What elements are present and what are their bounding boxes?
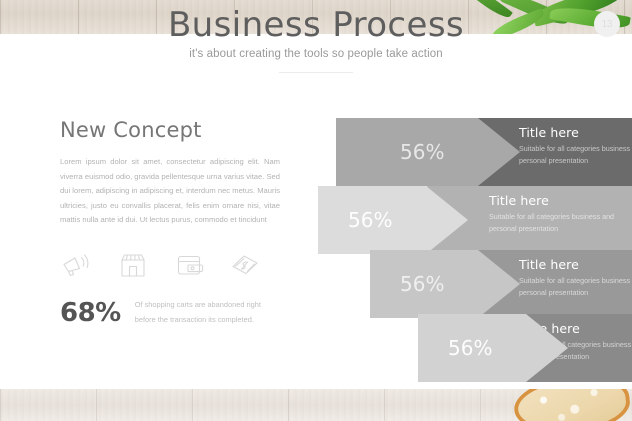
banknote-icon bbox=[228, 250, 262, 280]
process-step-percent: 56% bbox=[448, 336, 492, 360]
process-step-text: Title hereSuitable for all categories bu… bbox=[519, 257, 632, 298]
section-heading: New Concept bbox=[60, 118, 280, 142]
process-step-row[interactable]: Title hereSuitable for all categories bu… bbox=[318, 314, 632, 392]
process-step-description: Suitable for all categories business and… bbox=[489, 211, 629, 234]
section-body-text: Lorem ipsum dolor sit amet, consectetur … bbox=[60, 155, 280, 228]
process-step-chevron-stub bbox=[336, 118, 370, 186]
process-step-percent: 56% bbox=[348, 208, 392, 232]
megaphone-icon bbox=[60, 250, 94, 280]
statistic-block: 68% Of shopping carts are abandoned righ… bbox=[60, 298, 280, 328]
wallet-icon bbox=[172, 250, 206, 280]
process-step-text: Title hereSuitable for all categories bu… bbox=[489, 193, 629, 234]
process-step-title: Title here bbox=[519, 257, 632, 272]
slide-canvas: Business Process it's about creating the… bbox=[0, 0, 632, 421]
feature-icon-row bbox=[60, 250, 262, 280]
process-step-text: Title hereSuitable for all categories bu… bbox=[519, 125, 632, 166]
process-step-percent: 56% bbox=[400, 140, 444, 164]
process-step-description: Suitable for all categories business and… bbox=[519, 143, 632, 166]
process-step-row[interactable]: Title hereSuitable for all categories bu… bbox=[318, 118, 632, 196]
process-step-title: Title here bbox=[519, 125, 632, 140]
process-step-description: Suitable for all categories business and… bbox=[519, 275, 632, 298]
process-step-title: Title here bbox=[489, 193, 629, 208]
process-chevron-chart: Title hereSuitable for all categories bu… bbox=[318, 0, 632, 421]
left-content-column: New Concept Lorem ipsum dolor sit amet, … bbox=[60, 118, 280, 328]
statistic-description: Of shopping carts are abandoned right be… bbox=[135, 298, 275, 328]
process-step-percent: 56% bbox=[400, 272, 444, 296]
statistic-value: 68% bbox=[60, 298, 121, 328]
storefront-icon bbox=[116, 250, 150, 280]
